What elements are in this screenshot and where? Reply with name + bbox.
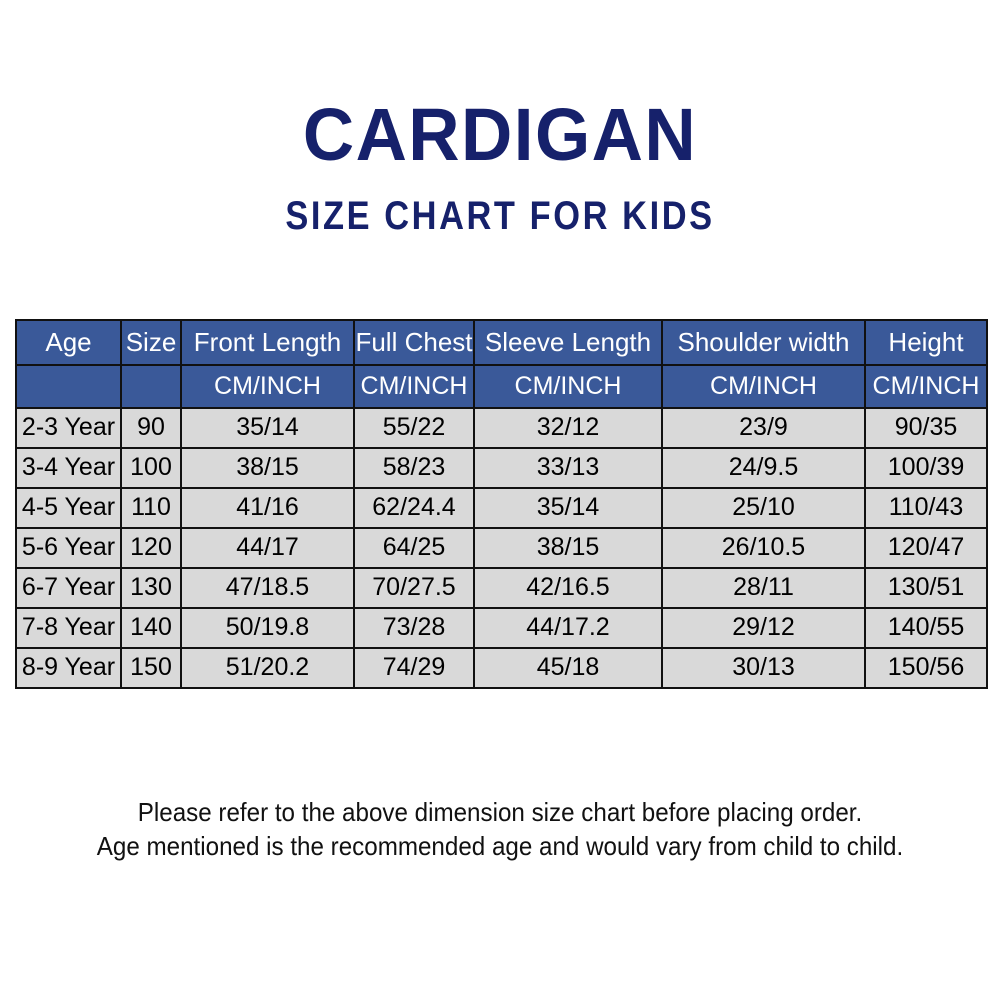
- cell-height: 100/39: [865, 448, 987, 488]
- cell-age: 2-3 Year: [16, 408, 121, 448]
- cell-sleeve-length: 44/17.2: [474, 608, 662, 648]
- footer-line-2: Age mentioned is the recommended age and…: [35, 829, 965, 863]
- cell-shoulder-width: 23/9: [662, 408, 865, 448]
- cell-front-length: 51/20.2: [181, 648, 354, 688]
- cell-front-length: 44/17: [181, 528, 354, 568]
- table-row: 7-8 Year 140 50/19.8 73/28 44/17.2 29/12…: [16, 608, 987, 648]
- cell-age: 7-8 Year: [16, 608, 121, 648]
- cell-front-length: 50/19.8: [181, 608, 354, 648]
- cell-full-chest: 73/28: [354, 608, 474, 648]
- cell-sleeve-length: 38/15: [474, 528, 662, 568]
- cell-height: 130/51: [865, 568, 987, 608]
- footer-note: Please refer to the above dimension size…: [0, 795, 1000, 863]
- table-row: 3-4 Year 100 38/15 58/23 33/13 24/9.5 10…: [16, 448, 987, 488]
- table-header-row: Age Size Front Length Full Chest Sleeve …: [16, 320, 987, 365]
- unit-cell-sleeve-length: CM/INCH: [474, 365, 662, 408]
- column-header-shoulder-width: Shoulder width: [662, 320, 865, 365]
- cell-size: 130: [121, 568, 181, 608]
- cell-size: 110: [121, 488, 181, 528]
- cell-full-chest: 62/24.4: [354, 488, 474, 528]
- cell-shoulder-width: 26/10.5: [662, 528, 865, 568]
- cell-shoulder-width: 28/11: [662, 568, 865, 608]
- size-chart-table-wrap: Age Size Front Length Full Chest Sleeve …: [15, 319, 986, 689]
- footer-line-1: Please refer to the above dimension size…: [35, 795, 965, 829]
- cell-sleeve-length: 35/14: [474, 488, 662, 528]
- table-row: 8-9 Year 150 51/20.2 74/29 45/18 30/13 1…: [16, 648, 987, 688]
- cell-shoulder-width: 29/12: [662, 608, 865, 648]
- unit-cell-full-chest: CM/INCH: [354, 365, 474, 408]
- cell-size: 150: [121, 648, 181, 688]
- unit-cell-front-length: CM/INCH: [181, 365, 354, 408]
- cell-size: 90: [121, 408, 181, 448]
- cell-full-chest: 64/25: [354, 528, 474, 568]
- table-unit-row: CM/INCH CM/INCH CM/INCH CM/INCH CM/INCH: [16, 365, 987, 408]
- cell-full-chest: 58/23: [354, 448, 474, 488]
- unit-cell-shoulder-width: CM/INCH: [662, 365, 865, 408]
- size-chart-page: CARDIGAN SIZE CHART FOR KIDS Age Size Fr…: [0, 0, 1000, 1000]
- cell-front-length: 35/14: [181, 408, 354, 448]
- cell-height: 140/55: [865, 608, 987, 648]
- column-header-sleeve-length: Sleeve Length: [474, 320, 662, 365]
- cell-age: 3-4 Year: [16, 448, 121, 488]
- cell-age: 6-7 Year: [16, 568, 121, 608]
- page-subtitle: SIZE CHART FOR KIDS: [70, 194, 930, 238]
- table-row: 6-7 Year 130 47/18.5 70/27.5 42/16.5 28/…: [16, 568, 987, 608]
- cell-height: 90/35: [865, 408, 987, 448]
- cell-front-length: 41/16: [181, 488, 354, 528]
- cell-shoulder-width: 24/9.5: [662, 448, 865, 488]
- cell-size: 120: [121, 528, 181, 568]
- size-chart-body: Age Size Front Length Full Chest Sleeve …: [16, 320, 987, 688]
- column-header-full-chest: Full Chest: [354, 320, 474, 365]
- cell-sleeve-length: 45/18: [474, 648, 662, 688]
- table-row: 5-6 Year 120 44/17 64/25 38/15 26/10.5 1…: [16, 528, 987, 568]
- column-header-size: Size: [121, 320, 181, 365]
- column-header-age: Age: [16, 320, 121, 365]
- cell-age: 8-9 Year: [16, 648, 121, 688]
- cell-shoulder-width: 30/13: [662, 648, 865, 688]
- unit-cell-size: [121, 365, 181, 408]
- cell-size: 140: [121, 608, 181, 648]
- cell-front-length: 38/15: [181, 448, 354, 488]
- cell-front-length: 47/18.5: [181, 568, 354, 608]
- cell-age: 4-5 Year: [16, 488, 121, 528]
- cell-sleeve-length: 33/13: [474, 448, 662, 488]
- unit-cell-height: CM/INCH: [865, 365, 987, 408]
- cell-height: 110/43: [865, 488, 987, 528]
- cell-sleeve-length: 42/16.5: [474, 568, 662, 608]
- cell-full-chest: 55/22: [354, 408, 474, 448]
- cell-sleeve-length: 32/12: [474, 408, 662, 448]
- table-row: 4-5 Year 110 41/16 62/24.4 35/14 25/10 1…: [16, 488, 987, 528]
- page-title: CARDIGAN: [20, 96, 980, 174]
- cell-shoulder-width: 25/10: [662, 488, 865, 528]
- cell-age: 5-6 Year: [16, 528, 121, 568]
- column-header-front-length: Front Length: [181, 320, 354, 365]
- size-chart-table: Age Size Front Length Full Chest Sleeve …: [15, 319, 988, 689]
- cell-height: 150/56: [865, 648, 987, 688]
- title-block: CARDIGAN SIZE CHART FOR KIDS: [0, 96, 1000, 238]
- column-header-height: Height: [865, 320, 987, 365]
- cell-size: 100: [121, 448, 181, 488]
- cell-height: 120/47: [865, 528, 987, 568]
- cell-full-chest: 74/29: [354, 648, 474, 688]
- cell-full-chest: 70/27.5: [354, 568, 474, 608]
- unit-cell-age: [16, 365, 121, 408]
- table-row: 2-3 Year 90 35/14 55/22 32/12 23/9 90/35: [16, 408, 987, 448]
